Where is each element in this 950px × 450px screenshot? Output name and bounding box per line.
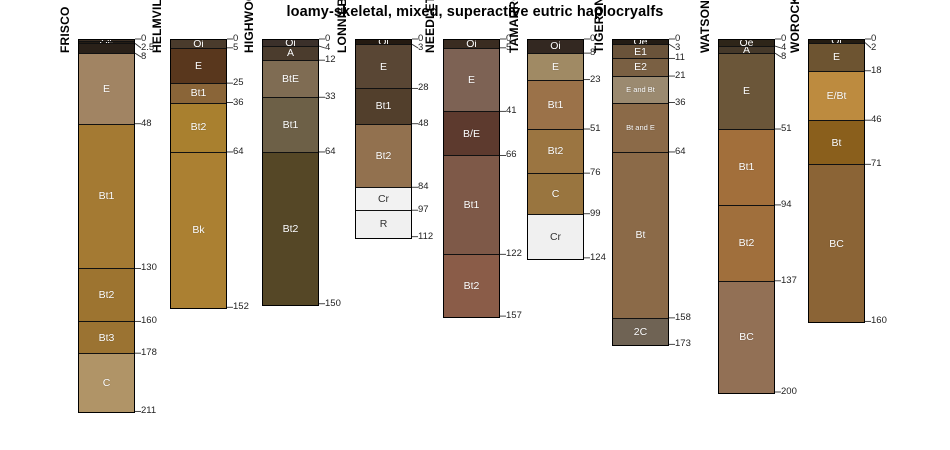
horizon-label: BtE [282,74,299,85]
horizon-label: Bt2 [99,290,115,301]
soil-horizon[interactable]: E [719,54,774,130]
soil-horizon[interactable]: Oi [171,40,226,49]
horizon-label: Bt1 [739,162,755,173]
profile-name-label: TAMARRON [507,0,521,53]
horizon-label: Bt2 [739,238,755,249]
depth-tick-label: 23 [590,75,601,85]
horizon-label: Oe [739,40,753,47]
depth-tick-label: 160 [141,316,157,326]
depth-tick-label: 41 [506,106,517,116]
horizon-label: C [552,189,560,200]
soil-profile-column[interactable]: OiABtEBt1Bt2 [262,39,319,306]
depth-tick-label: 3 [675,43,680,53]
soil-horizon[interactable]: E [444,49,499,113]
horizon-label: E [195,61,202,72]
horizon-label: E [468,75,475,86]
horizon-label: 2C [634,327,647,338]
depth-tick-label: 8 [781,52,786,62]
soil-horizon[interactable]: Oi [528,40,583,54]
horizon-label: E2 [634,62,647,73]
horizon-label: E [103,84,110,95]
soil-horizon[interactable]: Bt and E [613,104,668,153]
soil-horizon[interactable]: C [528,174,583,215]
depth-tick-label: 2 [871,43,876,53]
soil-profile-column[interactable]: OiEE/BtBtBC [808,39,865,323]
depth-tick-label: 18 [871,66,882,76]
depth-tick-label: 99 [590,209,601,219]
depth-tick-label: 4 [325,43,330,53]
depth-tick-label: 158 [675,313,691,323]
horizon-label: A [743,47,750,54]
depth-tick-label: 28 [418,83,429,93]
depth-tick-label: 150 [325,299,341,309]
soil-profile-column[interactable]: OiOeEBt1Bt2Bt3C [78,39,135,413]
depth-tick-label: 160 [871,316,887,326]
depth-tick-label: 130 [141,263,157,273]
depth-tick-label: 51 [590,124,601,134]
depth-tick-label: 211 [141,406,156,416]
soil-horizon[interactable]: B/E [444,112,499,156]
horizon-label: R [380,219,388,230]
horizon-label: E/Bt [827,91,847,102]
horizon-label: Bt2 [464,281,480,292]
depth-tick-label: 152 [233,302,249,312]
depth-tick-label: 157 [506,311,522,321]
depth-tick-label: 64 [325,147,336,157]
soil-horizon[interactable]: E [809,44,864,72]
soil-profile-column[interactable]: OiEBt1Bt2Bk [170,39,227,309]
soil-horizon[interactable]: BC [719,282,774,393]
horizon-label: Bt2 [283,224,299,235]
horizon-label: E1 [634,47,647,58]
soil-horizon[interactable]: BC [809,165,864,322]
soil-horizon[interactable]: R [356,211,411,237]
depth-tick-label: 76 [590,168,601,178]
soil-horizon[interactable]: E [528,54,583,80]
horizon-label: B/E [463,129,480,140]
profile-name-label: WATSONDRAW [698,0,712,53]
horizon-label: BC [829,239,844,250]
soil-profile-plot: OiOeEBt1Bt2Bt3CFRISCO02.5848130160178211… [0,0,950,450]
soil-horizon[interactable]: Bt3 [79,322,134,354]
horizon-label: BC [739,332,754,343]
horizon-label: Oi [285,40,296,47]
profile-name-label: FRISCO [58,6,72,53]
soil-horizon[interactable]: Bt1 [528,81,583,130]
soil-horizon[interactable]: Bt2 [263,153,318,305]
soil-horizon[interactable]: Bt1 [171,84,226,103]
depth-tick-label: 46 [871,115,882,125]
depth-tick-label: 200 [781,387,797,397]
depth-tick-label: 66 [506,150,517,160]
horizon-label: Bt1 [376,101,392,112]
depth-tick-label: 8 [141,52,146,62]
soil-horizon[interactable]: A [719,47,774,54]
soil-horizon[interactable]: Bt2 [719,206,774,282]
soil-horizon[interactable]: E and Bt [613,77,668,103]
horizon-label: Oi [466,40,477,49]
horizon-label: Bt2 [548,146,564,157]
profile-name-label: LONNIEBEE [335,0,349,53]
horizon-label: Cr [550,232,561,243]
soil-horizon[interactable]: Bt1 [719,130,774,206]
soil-horizon[interactable]: E1 [613,45,668,59]
profile-name-label: HELMVILLE [150,0,164,53]
depth-tick-label: 36 [675,98,686,108]
depth-tick-label: 5 [233,43,238,53]
soil-horizon[interactable]: Bt1 [444,156,499,255]
soil-profile-column[interactable]: OeE1E2E and BtBt and EBt2C [612,39,669,346]
soil-horizon[interactable]: Cr [356,188,411,211]
soil-horizon[interactable]: Bt1 [356,89,411,124]
horizon-label: Bt1 [191,88,207,99]
horizon-label: Bt1 [548,100,564,111]
soil-horizon[interactable]: E [356,45,411,89]
soil-horizon[interactable]: C [79,354,134,412]
soil-horizon[interactable]: A [263,47,318,61]
depth-tick-label: 48 [141,119,152,129]
depth-tick-label: 178 [141,348,157,358]
soil-horizon[interactable] [79,44,134,54]
soil-horizon[interactable]: 2C [613,319,668,345]
soil-horizon[interactable]: Cr [528,215,583,259]
soil-profile-column[interactable]: OeAEBt1Bt2BC [718,39,775,394]
horizon-label: Bt and E [626,124,655,132]
soil-horizon[interactable]: Oi [263,40,318,47]
horizon-label: Bt1 [283,120,299,131]
horizon-label: Bk [192,225,204,236]
depth-tick-label: 36 [233,98,244,108]
horizon-label: E [380,62,387,73]
horizon-label: C [103,378,111,389]
depth-tick-label: 84 [418,182,429,192]
soil-profile-column[interactable]: OiEBt1Bt2CrR [355,39,412,239]
depth-tick-label: 21 [675,71,686,81]
depth-tick-label: 48 [418,119,429,129]
horizon-label: E [833,52,840,63]
soil-horizon[interactable]: E [79,54,134,125]
depth-tick-label: 97 [418,205,429,215]
horizon-label: Bt3 [99,333,115,344]
horizon-label: E [743,86,750,97]
soil-horizon[interactable]: Bt1 [79,125,134,270]
profile-name-label: HIGHWOOD [242,0,256,53]
soil-horizon[interactable]: Bt2 [528,130,583,174]
soil-horizon[interactable]: Bt1 [263,98,318,153]
depth-tick-label: 64 [233,147,244,157]
depth-tick-label: 64 [675,147,686,157]
soil-horizon[interactable]: Bt [613,153,668,319]
soil-horizon[interactable]: BtE [263,61,318,98]
soil-horizon[interactable]: Oe [719,40,774,47]
horizon-label: Oi [550,41,561,52]
profile-name-label: NEEDLETON [423,0,437,53]
depth-tick-label: 71 [871,159,882,169]
horizon-label: Bt [832,138,842,149]
depth-tick-label: 33 [325,92,336,102]
horizon-label: A [287,48,294,59]
soil-horizon[interactable]: Bt2 [444,255,499,317]
soil-horizon[interactable]: E2 [613,59,668,77]
depth-tick-label: 25 [233,78,244,88]
soil-profile-column[interactable]: OiEB/EBt1Bt2 [443,39,500,318]
soil-horizon[interactable]: E/Bt [809,72,864,121]
soil-horizon[interactable]: Bt2 [356,125,411,189]
depth-tick-label: 122 [506,249,522,259]
profile-name-label: TIGERON [592,0,606,53]
soil-horizon[interactable]: Bt2 [171,104,226,153]
horizon-label: Bt2 [376,151,392,162]
depth-tick-label: 94 [781,200,792,210]
soil-horizon[interactable]: Bk [171,153,226,308]
depth-tick-label: 137 [781,276,797,286]
depth-tick-label: 173 [675,339,691,349]
soil-profile-column[interactable]: OiEBt1Bt2CCr [527,39,584,260]
horizon-label: E and Bt [626,86,655,94]
depth-tick-label: 51 [781,124,792,134]
depth-tick-label: 11 [675,53,685,63]
depth-tick-label: 12 [325,55,336,65]
soil-horizon[interactable]: Bt2 [79,269,134,322]
depth-tick-label: 112 [418,232,433,242]
soil-horizon[interactable]: Bt [809,121,864,165]
horizon-label: Cr [378,194,389,205]
profile-name-label: WOROCK [788,0,802,53]
horizon-label: Bt [636,230,646,241]
horizon-label: Bt2 [191,122,207,133]
horizon-label: E [552,62,559,73]
soil-horizon[interactable]: E [171,49,226,84]
depth-tick-label: 124 [590,253,606,263]
horizon-label: Bt1 [99,191,115,202]
horizon-label: Oi [193,40,204,49]
soil-horizon[interactable]: Oi [444,40,499,49]
horizon-label: Bt1 [464,200,480,211]
